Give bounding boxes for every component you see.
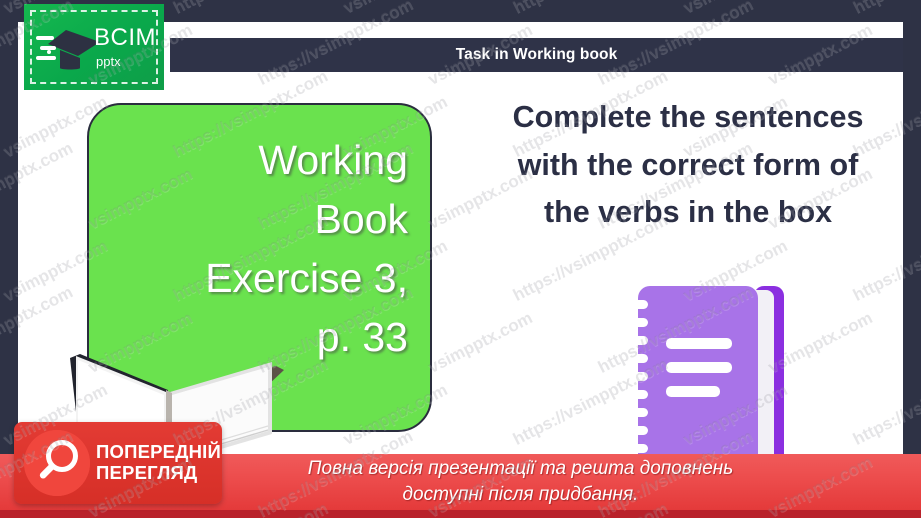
green-line-3: Exercise 3, — [205, 249, 408, 308]
green-line-4: p. 33 — [317, 308, 408, 367]
heading-line-3: the verbs in the box — [458, 189, 903, 237]
badge-line-2: ПЕРЕГЛЯД — [96, 463, 221, 484]
graduation-cap-icon — [36, 26, 102, 72]
notebook-svg — [622, 280, 797, 480]
badge-line-1: ПОПЕРЕДНІЙ — [96, 442, 221, 463]
watermark-text: vsimpptx.com — [680, 0, 791, 18]
magnifier-svg — [24, 430, 90, 496]
green-line-2: Book — [315, 190, 408, 249]
heading-line-1: Complete the sentences — [458, 94, 903, 142]
slide-header-bar: Task in Working book — [170, 38, 903, 72]
green-line-1: Working — [258, 131, 408, 190]
magnifier-icon — [24, 430, 90, 496]
logo-brand-text: BCIM — [94, 26, 156, 50]
preview-badge-labels: ПОПЕРЕДНІЙ ПЕРЕГЛЯД — [96, 442, 221, 483]
watermark-text: vsimpptx.com — [340, 0, 451, 18]
task-heading: Complete the sentences with the correct … — [458, 94, 903, 237]
purchase-banner-text: Повна версія презентації та решта доповн… — [308, 456, 733, 507]
logo-suffix-text: pptx — [96, 55, 156, 68]
banner-line-1: Повна версія презентації та решта доповн… — [308, 456, 733, 482]
watermark-text: https://vsimpptx.com — [850, 0, 921, 18]
slide-header-title: Task in Working book — [456, 46, 618, 64]
watermark-text: https://vsimpptx.com — [510, 0, 671, 18]
logo-wordmark: BCIM pptx — [94, 26, 156, 68]
banner-line-2: доступні після придбання. — [308, 482, 733, 508]
spiral-rings — [624, 300, 648, 453]
bcim-logo: BCIM pptx — [24, 4, 164, 90]
spiral-notebook-icon — [622, 280, 797, 480]
heading-line-2: with the correct form of — [458, 142, 903, 190]
preview-badge[interactable]: ПОПЕРЕДНІЙ ПЕРЕГЛЯД — [14, 422, 222, 504]
watermark-text: https://vsimpptx.com — [170, 0, 331, 18]
slide-viewer: Task in Working book Working Book Exerci… — [0, 0, 921, 518]
purchase-banner-strip — [0, 510, 921, 518]
